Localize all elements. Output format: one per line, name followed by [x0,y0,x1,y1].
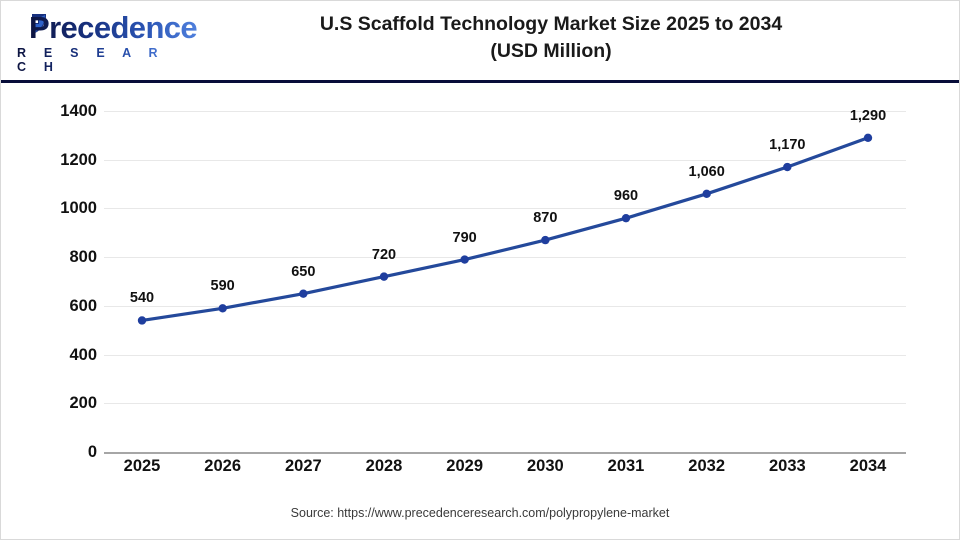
data-point-label: 650 [263,264,343,280]
precedence-research-logo: Precedence R E S E A R C H [15,11,175,67]
chart-plot-area: 0200400600800100012001400 20252026202720… [1,85,959,495]
header-divider [1,80,959,83]
data-point-marker [460,255,468,263]
data-point-marker [702,190,710,198]
data-point-marker [541,236,549,244]
data-point-marker [138,316,146,324]
page-title: U.S Scaffold Technology Market Size 2025… [191,11,911,65]
data-point-label: 1,290 [828,108,908,124]
data-point-label: 1,170 [747,137,827,153]
data-point-label: 590 [183,278,263,294]
data-point-label: 790 [425,230,505,246]
chart-page: Precedence R E S E A R C H U.S Scaffold … [0,0,960,540]
data-point-label: 870 [505,210,585,226]
data-point-label: 720 [344,247,424,263]
logo-wordmark: Precedence [29,11,197,45]
data-point-marker [299,289,307,297]
series-markers [138,134,872,325]
page-title-line2: (USD Million) [191,38,911,65]
data-point-label: 540 [102,290,182,306]
data-point-marker [864,134,872,142]
logo-subtitle: R E S E A R C H [17,46,175,74]
data-point-marker [622,214,630,222]
source-note: Source: https://www.precedenceresearch.c… [1,506,959,520]
data-point-marker [380,272,388,280]
chart-header: Precedence R E S E A R C H U.S Scaffold … [1,1,959,81]
data-point-marker [783,163,791,171]
data-point-label: 1,060 [667,164,747,180]
data-point-label: 960 [586,188,666,204]
page-title-line1: U.S Scaffold Technology Market Size 2025… [191,11,911,38]
data-point-marker [218,304,226,312]
